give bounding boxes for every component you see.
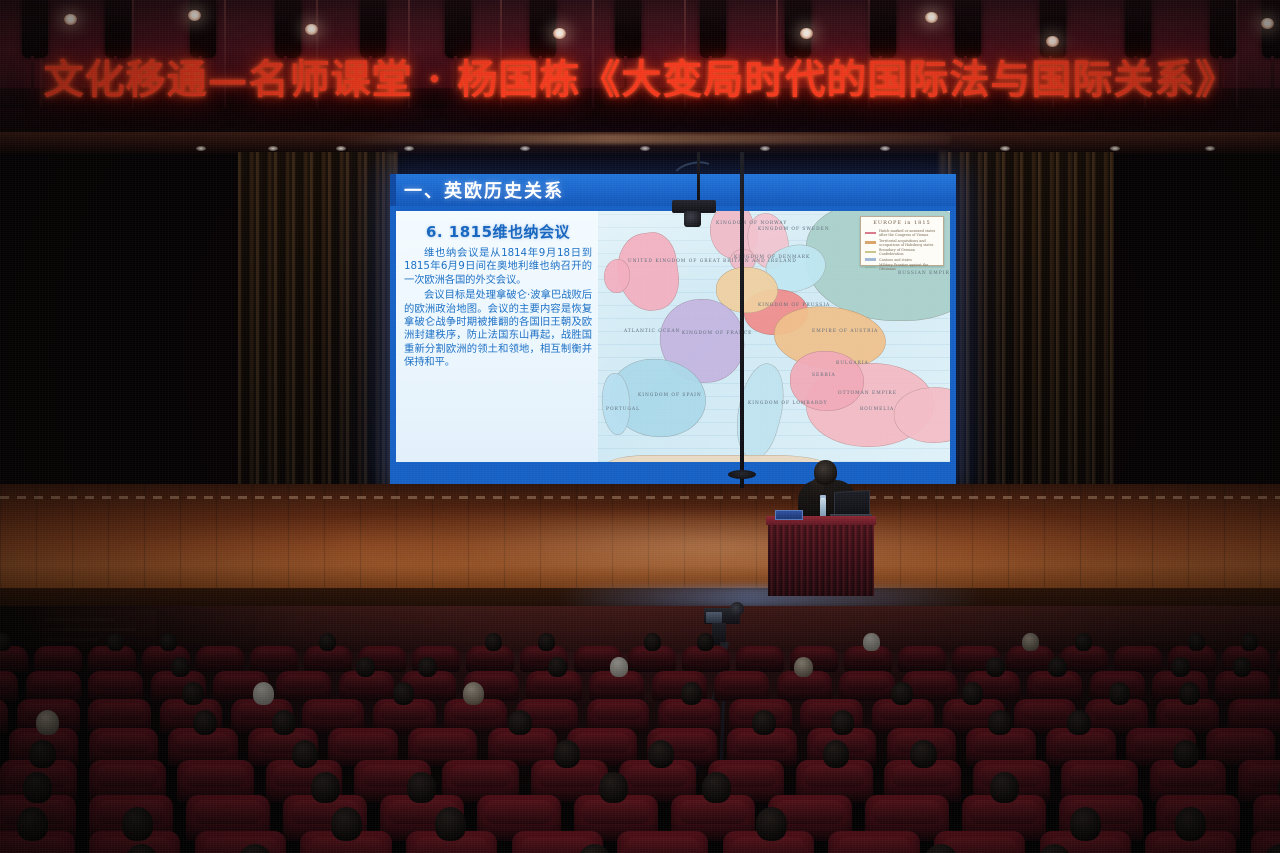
- audience-member: [554, 740, 580, 768]
- map-label: OTTOMAN EMPIRE: [838, 391, 897, 396]
- audience-member: [599, 772, 628, 803]
- map-label: PORTUGAL: [606, 407, 640, 412]
- audience-member: [435, 807, 466, 840]
- auditorium-seat: [26, 671, 81, 701]
- projection-screen: 一、英欧历史关系 6. 1815维也纳会议 维也纳会议是从1814年9月18日到…: [390, 174, 956, 484]
- presenter-nameplate: [775, 510, 803, 520]
- audience-member: [29, 740, 55, 768]
- audience-member: [292, 740, 318, 768]
- auditorium-seat: [88, 671, 143, 701]
- map-label: KINGDOM OF DENMARK: [734, 255, 810, 260]
- map-label: RUSSIAN EMPIRE: [898, 271, 950, 276]
- audience-member: [891, 682, 912, 705]
- audience-member: [538, 633, 554, 651]
- recessed-downlight: [336, 146, 346, 151]
- audience-member: [122, 807, 153, 840]
- audience-member: [171, 657, 190, 677]
- auditorium-seat: [0, 699, 8, 733]
- audience-member: [393, 682, 414, 705]
- map-label: ROUMELIA: [860, 407, 894, 412]
- auditorium-seat: [250, 646, 298, 672]
- auditorium-seat: [617, 831, 708, 853]
- recessed-downlight: [404, 146, 414, 151]
- stage-spotlight: [553, 28, 566, 39]
- proscenium-sheen: [330, 134, 950, 144]
- auditorium-seat: [34, 646, 82, 672]
- audience-member: [831, 710, 855, 736]
- stage-curtain-left: [238, 152, 398, 532]
- europe-1815-map: ATLANTIC OCEANUNITED KINGDOM OF GREAT BR…: [598, 211, 950, 462]
- map-label: KINGDOM OF LOMBARDY: [748, 401, 828, 406]
- recessed-downlight: [1000, 146, 1010, 151]
- audience-member: [418, 657, 437, 677]
- audience-member: [548, 657, 567, 677]
- audience-member: [988, 710, 1012, 736]
- audience-member: [910, 740, 936, 768]
- legend-color-swatch: [865, 266, 876, 269]
- stage-spotlight: [800, 28, 813, 39]
- auditorium-seat: [898, 646, 946, 672]
- audience-member: [508, 710, 532, 736]
- lecture-hall-photo: 文化移通—名师课堂 · 杨国栋《大变局时代的国际法与国际关系》 一、英欧历史关系…: [0, 0, 1280, 853]
- auditorium-seat: [714, 671, 769, 701]
- microphone-stand-base: [728, 470, 756, 479]
- slide-paragraph-2: 会议目标是处理拿破仑·波拿巴战败后的欧洲政治地图。会议的主要内容是恢复拿破仑战争…: [404, 289, 592, 369]
- presenter-desk: [766, 516, 876, 596]
- audience-member: [1175, 807, 1206, 840]
- audience-member: [962, 682, 983, 705]
- slide-section-heading: 一、英欧历史关系: [404, 177, 564, 203]
- audience-member: [1048, 657, 1067, 677]
- audience-member: [986, 657, 1005, 677]
- audience-member: [1173, 740, 1199, 768]
- legend-entry-label: Hatch marked or annexed states after the…: [879, 229, 939, 237]
- audience-member: [23, 772, 52, 803]
- audience-member: [863, 633, 879, 651]
- audience-member: [794, 657, 813, 677]
- audience-member: [193, 710, 217, 736]
- legend-color-swatch: [865, 258, 876, 261]
- map-legend-row: Military Frontier against the Ottomans: [865, 263, 939, 271]
- microphone-stand-pole: [740, 152, 744, 488]
- map-legend-row: Territorial acquisitions and occupations…: [865, 239, 939, 247]
- slide-text-column: 6. 1815维也纳会议 维也纳会议是从1814年9月18日到1815年6月9日…: [396, 211, 598, 462]
- audience-member: [644, 633, 660, 651]
- audience-member: [0, 633, 11, 651]
- recessed-downlight: [1110, 146, 1120, 151]
- audience-member: [272, 710, 296, 736]
- map-legend-title: EUROPE in 1815: [865, 220, 939, 226]
- audience-member: [1022, 633, 1038, 651]
- audience-member: [752, 710, 776, 736]
- audience-member: [648, 740, 674, 768]
- map-legend-row: Boundary of German Confederation: [865, 248, 939, 256]
- audience-member: [610, 657, 629, 677]
- slide-footer-bar: [390, 462, 956, 484]
- camcorder-flip-screen: [706, 612, 722, 623]
- legend-entry-label: Boundary of German Confederation: [879, 248, 939, 256]
- audience-member: [319, 633, 335, 651]
- audience-member: [1109, 682, 1130, 705]
- audience-member: [182, 682, 203, 705]
- wall-panel: [36, 610, 156, 648]
- stage-edge-line: [0, 496, 1280, 499]
- ceiling-camera-lens-icon: [684, 211, 701, 227]
- presenter-head: [814, 460, 837, 485]
- audience-member: [311, 772, 340, 803]
- legend-entry-label: Territorial acquisitions and occupations…: [879, 239, 939, 247]
- map-legend-row: Hatch marked or annexed states after the…: [865, 229, 939, 237]
- audience-member: [160, 633, 176, 651]
- audience-member: [756, 807, 787, 840]
- audience-member: [697, 633, 713, 651]
- recessed-downlight: [268, 146, 278, 151]
- auditorium-seat: [839, 671, 894, 701]
- legend-color-swatch: [865, 251, 876, 254]
- audience-member: [990, 772, 1019, 803]
- slide-paragraph-1: 维也纳会议是从1814年9月18日到1815年6月9日间在奥地利维也纳召开的一次…: [404, 247, 592, 287]
- audience-member: [1070, 807, 1101, 840]
- stage-spotlight: [925, 12, 938, 23]
- presentation-slide: 一、英欧历史关系 6. 1815维也纳会议 维也纳会议是从1814年9月18日到…: [390, 174, 956, 484]
- map-region-north-africa: [608, 455, 828, 462]
- auditorium-seat: [196, 646, 244, 672]
- audience-member: [485, 633, 501, 651]
- map-label: KINGDOM OF PRUSSIA: [758, 303, 830, 308]
- audience-member: [36, 710, 60, 736]
- map-label: BULGARIA: [836, 361, 869, 366]
- audience-member: [823, 740, 849, 768]
- map-label: EMPIRE OF AUSTRIA: [812, 329, 878, 334]
- audience-member: [681, 682, 702, 705]
- auditorium-seat: [1114, 646, 1162, 672]
- map-label: KINGDOM OF NORWAY: [716, 221, 787, 226]
- audience-member: [1067, 710, 1091, 736]
- recessed-downlight: [520, 146, 530, 151]
- audience-member: [356, 657, 375, 677]
- auditorium-seat: [195, 831, 286, 853]
- audience-member: [407, 772, 436, 803]
- legend-entry-label: Cantons and states: [879, 258, 912, 262]
- legend-color-swatch: [865, 232, 876, 235]
- auditorium-seat: [276, 671, 331, 701]
- floor-light-reflection-left: [120, 520, 540, 590]
- audience-member: [1075, 633, 1091, 651]
- audience-member: [1179, 682, 1200, 705]
- map-legend-entries: Hatch marked or annexed states after the…: [865, 229, 939, 271]
- banner: 文化移通—名师课堂 · 杨国栋《大变局时代的国际法与国际关系》: [0, 44, 1280, 116]
- camcorder-lens-icon: [730, 602, 744, 616]
- water-bottle: [820, 498, 826, 518]
- auditorium-seat: [0, 671, 18, 701]
- audience-member: [253, 682, 274, 705]
- audience-member: [17, 807, 48, 840]
- audience-member: [1241, 633, 1257, 651]
- audience-member: [702, 772, 731, 803]
- map-label: KINGDOM OF SWEDEN: [758, 227, 830, 232]
- audience-member: [1233, 657, 1252, 677]
- desk-skirt-cloth: [768, 525, 874, 596]
- recessed-downlight: [640, 146, 650, 151]
- banner-title: 文化移通—名师课堂 · 杨国栋《大变局时代的国际法与国际关系》: [44, 60, 1237, 100]
- map-label: ATLANTIC OCEAN: [624, 329, 680, 334]
- recessed-downlight: [760, 146, 770, 151]
- stage-spotlight: [305, 24, 318, 35]
- audience-member: [1171, 657, 1190, 677]
- slide-topic-title: 6. 1815维也纳会议: [404, 221, 592, 242]
- stage-spotlight: [188, 10, 201, 21]
- audience-member: [331, 807, 362, 840]
- recessed-downlight: [196, 146, 206, 151]
- audience-member: [1188, 633, 1204, 651]
- recessed-downlight: [1205, 146, 1215, 151]
- map-label: SERBIA: [812, 373, 836, 378]
- map-legend: EUROPE in 1815 Hatch marked or annexed s…: [860, 216, 944, 266]
- stage-curtain-right: [948, 152, 1114, 532]
- auditorium-seat: [828, 831, 919, 853]
- slide-body: 6. 1815维也纳会议 维也纳会议是从1814年9月18日到1815年6月9日…: [396, 211, 950, 462]
- stage-spotlight: [64, 14, 77, 25]
- auditorium-seating: [0, 606, 1280, 853]
- audience-member: [107, 633, 123, 651]
- legend-entry-label: Military Frontier against the Ottomans: [879, 263, 939, 271]
- stage-spotlight: [1261, 18, 1274, 29]
- audience-member: [463, 682, 484, 705]
- recessed-downlight: [880, 146, 890, 151]
- legend-color-swatch: [865, 241, 876, 244]
- map-label: KINGDOM OF SPAIN: [638, 393, 702, 398]
- auditorium-seat: [736, 646, 784, 672]
- map-legend-row: Cantons and states: [865, 258, 939, 262]
